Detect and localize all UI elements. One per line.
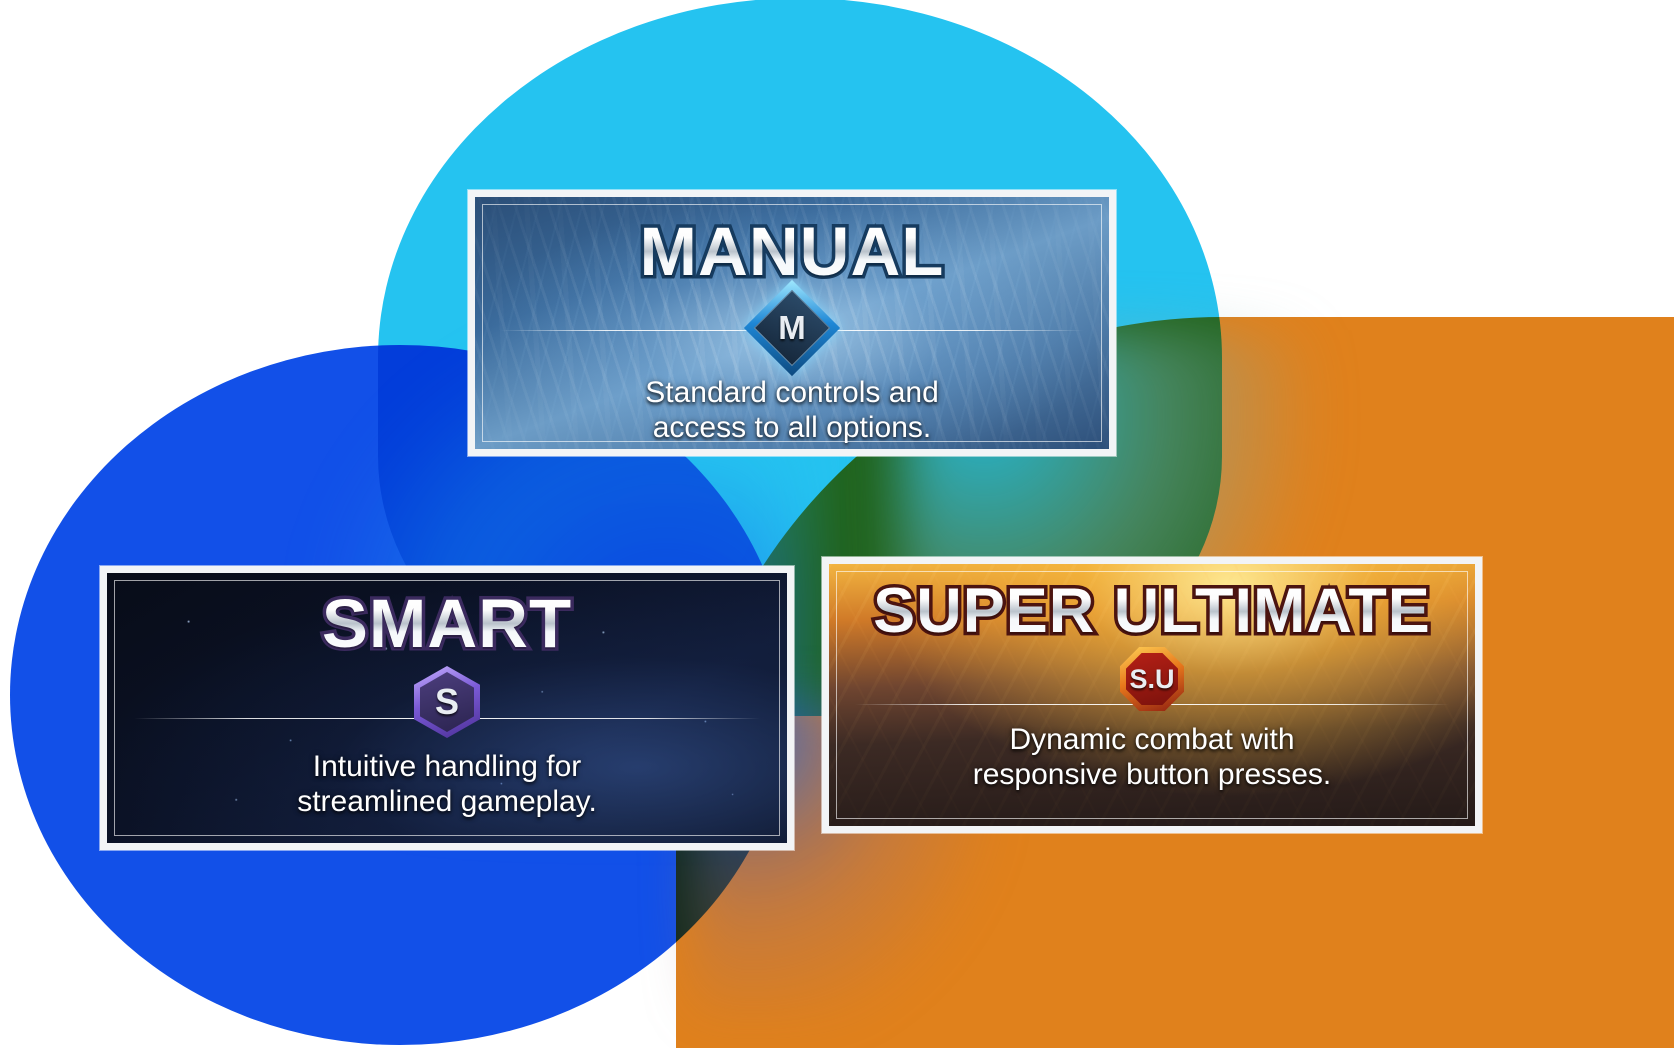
manual-badge-label: M [778, 309, 806, 347]
smart-card-content: SMART SMART S Intuitive handling for str… [107, 573, 787, 843]
smart-description: Intuitive handling for streamlined gamep… [297, 750, 597, 820]
manual-card-content: MANUAL MANUAL M Standard controls and ac… [475, 197, 1109, 449]
control-mode-card-smart[interactable]: SMART SMART S Intuitive handling for str… [100, 566, 794, 850]
card-inner-smart: SMART SMART S Intuitive handling for str… [107, 573, 787, 843]
super-ultimate-title: SUPER ULTIMATE [873, 580, 1431, 643]
manual-title: MANUAL [640, 217, 945, 286]
manual-diamond-badge-icon: M [758, 294, 826, 362]
control-mode-selection-screen: MANUAL MANUAL M Standard controls and ac… [0, 0, 1674, 1048]
smart-badge-label: S [435, 681, 459, 723]
smart-title: SMART [322, 589, 572, 658]
control-mode-card-manual[interactable]: MANUAL MANUAL M Standard controls and ac… [468, 190, 1116, 456]
smart-title-wrap: SMART SMART [322, 589, 572, 658]
super-ultimate-title-wrap: SUPER ULTIMATE SUPER ULTIMATE [873, 580, 1431, 643]
smart-badge-slot: S [414, 666, 480, 738]
super-ultimate-badge-label: S.U [1129, 664, 1174, 695]
control-mode-card-super-ultimate[interactable]: SUPER ULTIMATE SUPER ULTIMATE S.U Dynami… [822, 557, 1482, 833]
super-ultimate-description: Dynamic combat with responsive button pr… [973, 723, 1332, 793]
super-ultimate-badge-slot: S.U [1120, 647, 1184, 711]
smart-hexagon-badge-icon: S [414, 666, 480, 738]
card-inner-manual: MANUAL MANUAL M Standard controls and ac… [475, 197, 1109, 449]
card-inner-super-ultimate: SUPER ULTIMATE SUPER ULTIMATE S.U Dynami… [829, 564, 1475, 826]
super-ultimate-card-content: SUPER ULTIMATE SUPER ULTIMATE S.U Dynami… [829, 564, 1475, 826]
manual-title-wrap: MANUAL MANUAL [640, 217, 945, 286]
super-ultimate-octagon-badge-icon: S.U [1120, 647, 1184, 711]
manual-badge-slot: M [758, 294, 826, 362]
manual-description: Standard controls and access to all opti… [645, 376, 939, 446]
